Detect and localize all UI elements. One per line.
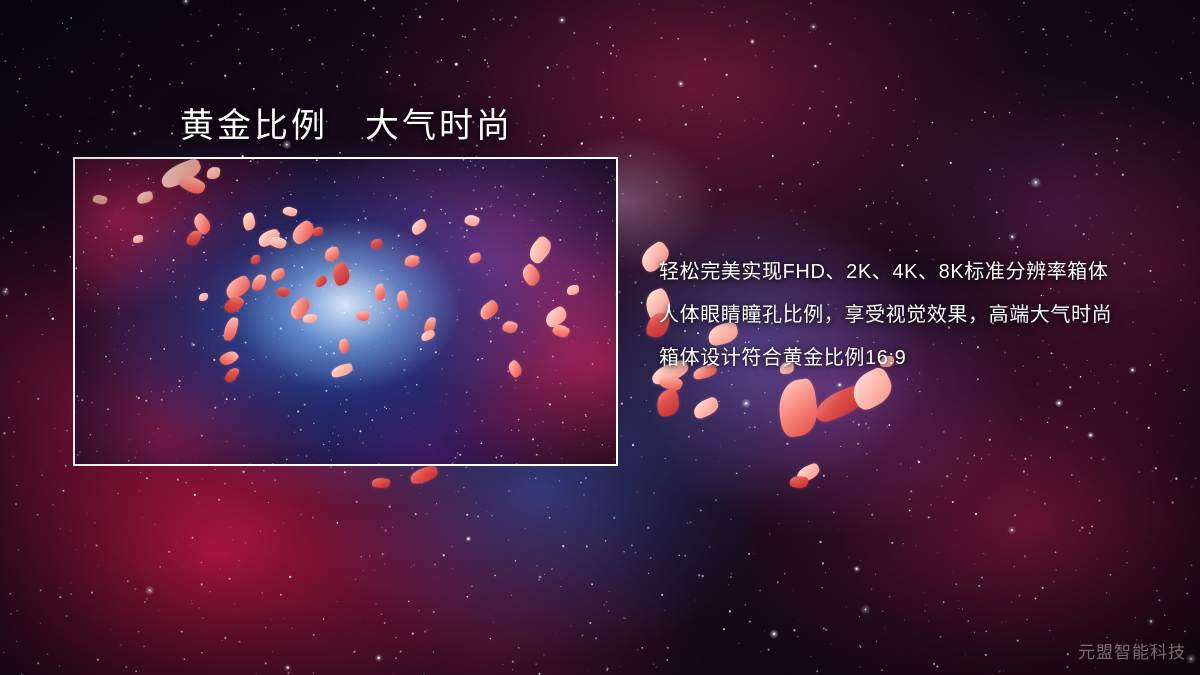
body-line-1: 轻松完美实现FHD、2K、4K、8K标准分辨率箱体 (659, 251, 1159, 294)
framed-image-content (75, 159, 616, 464)
watermark-label: 元盟智能科技 (1078, 638, 1186, 663)
body-line-3: 箱体设计符合黄金比例16:9 (659, 337, 1159, 380)
page-title: 黄金比例 大气时尚 (180, 98, 513, 147)
framed-image (73, 157, 618, 466)
presentation-slide: 黄金比例 大气时尚 轻松完美实现FHD、2K、4K、8K标准分辨率箱体 人体眼睛… (0, 0, 1200, 675)
framed-image-vignette (75, 159, 616, 464)
body-text-block: 轻松完美实现FHD、2K、4K、8K标准分辨率箱体 人体眼睛瞳孔比例，享受视觉效… (659, 251, 1159, 380)
body-line-2: 人体眼睛瞳孔比例，享受视觉效果，高端大气时尚 (659, 294, 1159, 337)
